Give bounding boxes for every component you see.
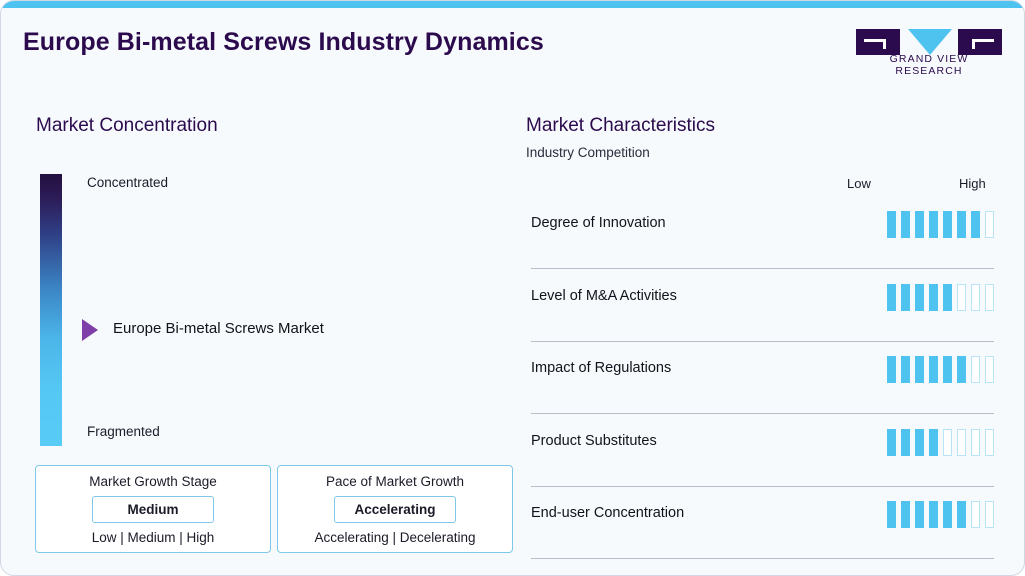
- characteristic-row: Degree of Innovation: [531, 197, 994, 269]
- rating-segment-filled: [929, 501, 938, 528]
- infographic-page: Europe Bi-metal Screws Industry Dynamics…: [0, 0, 1025, 576]
- characteristic-row: Impact of Regulations: [531, 342, 994, 414]
- characteristic-rating-bars: [887, 429, 994, 456]
- market-growth-stage-value-container: Medium: [92, 496, 214, 523]
- pace-of-market-growth-scale: Accelerating | Decelerating: [278, 530, 512, 545]
- concentration-bottom-label: Fragmented: [87, 424, 160, 439]
- rating-segment-filled: [915, 501, 924, 528]
- characteristic-rating-bars: [887, 211, 994, 238]
- rating-segment-filled: [957, 211, 966, 238]
- rating-segment-empty: [957, 284, 966, 311]
- rating-segment-empty: [971, 501, 980, 528]
- rating-segment-filled: [929, 284, 938, 311]
- rating-segment-empty: [985, 211, 994, 238]
- rating-segment-filled: [901, 211, 910, 238]
- rating-segment-filled: [957, 501, 966, 528]
- characteristic-label: Impact of Regulations: [531, 360, 671, 376]
- rating-segment-filled: [915, 356, 924, 383]
- market-growth-stage-scale: Low | Medium | High: [36, 530, 270, 545]
- rating-segment-filled: [915, 429, 924, 456]
- pace-of-market-growth-title: Pace of Market Growth: [278, 474, 512, 489]
- rating-segment-empty: [957, 429, 966, 456]
- rating-segment-empty: [971, 284, 980, 311]
- rating-segment-empty: [943, 429, 952, 456]
- concentration-marker-arrow-icon: [82, 319, 98, 341]
- rating-segment-filled: [901, 356, 910, 383]
- rating-segment-filled: [943, 284, 952, 311]
- top-accent-bar: [1, 1, 1024, 8]
- rating-segment-empty: [985, 501, 994, 528]
- grand-view-research-logo: GRAND VIEW RESEARCH: [856, 27, 1002, 77]
- page-title: Europe Bi-metal Screws Industry Dynamics: [23, 28, 544, 57]
- rating-segment-empty: [985, 356, 994, 383]
- characteristic-row: End-user Concentration: [531, 487, 994, 559]
- market-growth-stage-box: Market Growth Stage Medium Low | Medium …: [35, 465, 271, 553]
- characteristic-row: Level of M&A Activities: [531, 270, 994, 342]
- rating-segment-filled: [957, 356, 966, 383]
- market-characteristics-subtitle: Industry Competition: [526, 145, 650, 160]
- market-characteristics-title: Market Characteristics: [526, 115, 715, 137]
- rating-segment-filled: [887, 284, 896, 311]
- rating-segment-filled: [887, 211, 896, 238]
- scale-high-label: High: [959, 176, 986, 191]
- market-concentration-title: Market Concentration: [36, 115, 218, 137]
- row-divider: [531, 558, 994, 559]
- characteristic-label: Degree of Innovation: [531, 215, 666, 231]
- characteristic-rating-bars: [887, 284, 994, 311]
- rating-segment-filled: [929, 356, 938, 383]
- characteristic-label: Level of M&A Activities: [531, 288, 677, 304]
- rating-segment-filled: [915, 284, 924, 311]
- rating-segment-filled: [901, 501, 910, 528]
- characteristic-label: Product Substitutes: [531, 433, 657, 449]
- pace-of-market-growth-value-container: Accelerating: [334, 496, 456, 523]
- concentration-gradient-bar: [40, 174, 62, 446]
- rating-segment-filled: [929, 429, 938, 456]
- market-growth-stage-title: Market Growth Stage: [36, 474, 270, 489]
- rating-segment-empty: [971, 429, 980, 456]
- rating-segment-empty: [985, 429, 994, 456]
- rating-segment-filled: [971, 211, 980, 238]
- rating-segment-empty: [971, 356, 980, 383]
- characteristic-rating-bars: [887, 356, 994, 383]
- rating-segment-filled: [943, 501, 952, 528]
- rating-segment-filled: [915, 211, 924, 238]
- scale-low-label: Low: [847, 176, 871, 191]
- rating-segment-filled: [943, 356, 952, 383]
- market-growth-stage-value: Medium: [127, 502, 178, 517]
- characteristic-label: End-user Concentration: [531, 505, 684, 521]
- pace-of-market-growth-box: Pace of Market Growth Accelerating Accel…: [277, 465, 513, 553]
- pace-of-market-growth-value: Accelerating: [354, 502, 435, 517]
- concentration-marker-label: Europe Bi-metal Screws Market: [113, 320, 324, 337]
- rating-segment-filled: [887, 429, 896, 456]
- characteristic-rating-bars: [887, 501, 994, 528]
- logo-text: GRAND VIEW RESEARCH: [856, 53, 1002, 77]
- rating-segment-empty: [985, 284, 994, 311]
- characteristic-row: Product Substitutes: [531, 415, 994, 487]
- rating-segment-filled: [929, 211, 938, 238]
- rating-segment-filled: [887, 501, 896, 528]
- rating-segment-filled: [901, 429, 910, 456]
- rating-segment-filled: [887, 356, 896, 383]
- rating-segment-filled: [943, 211, 952, 238]
- rating-segment-filled: [901, 284, 910, 311]
- concentration-top-label: Concentrated: [87, 175, 168, 190]
